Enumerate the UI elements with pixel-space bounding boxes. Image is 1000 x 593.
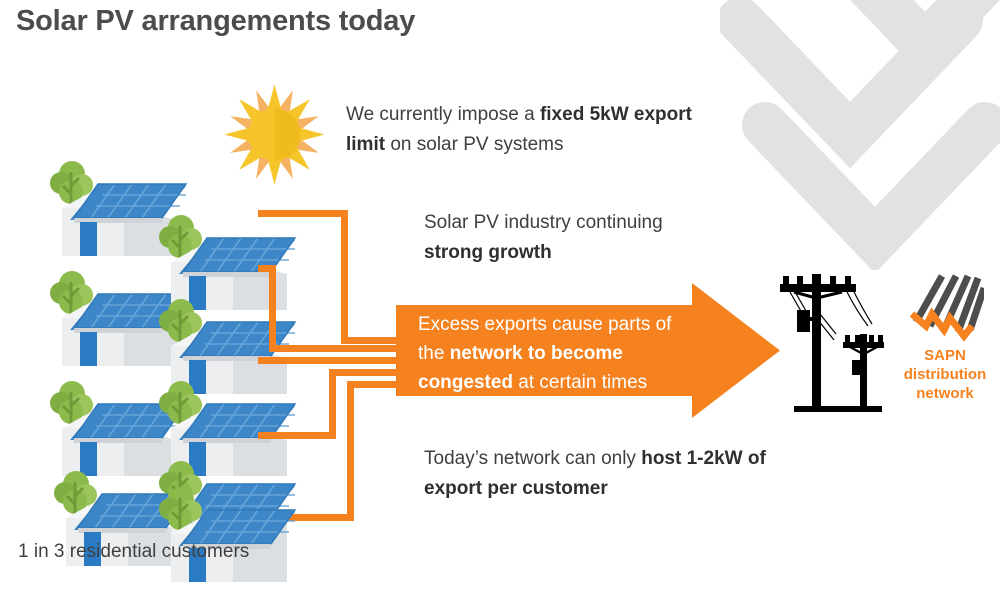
power-wire-4-rise bbox=[329, 369, 336, 439]
sapn-label-line-3: network bbox=[900, 384, 990, 403]
sapn-label-line-1: SAPN bbox=[900, 346, 990, 365]
power-wire-1-drop bbox=[341, 210, 348, 344]
caption-hosting-capacity: Today’s network can only host 1-2kW of e… bbox=[424, 444, 814, 504]
caption-strong-growth-part-1: strong growth bbox=[424, 242, 552, 263]
caption-congestion-part-2: at certain times bbox=[513, 372, 647, 393]
caption-strong-growth: Solar PV industry continuing strong grow… bbox=[424, 208, 724, 268]
sun-icon bbox=[222, 82, 327, 187]
power-wire-1-join bbox=[341, 337, 403, 344]
caption-export-limit-part-2: on solar PV systems bbox=[385, 134, 563, 155]
power-wire-2-join bbox=[269, 345, 403, 352]
caption-strong-growth-part-0: Solar PV industry continuing bbox=[424, 212, 663, 233]
caption-congestion: Excess exports cause parts of the networ… bbox=[418, 310, 686, 397]
sapn-logo-label: SAPN distribution network bbox=[900, 346, 990, 403]
power-wire-4 bbox=[258, 432, 336, 439]
power-wire-5-join bbox=[347, 381, 403, 388]
power-wire-5-rise bbox=[347, 381, 354, 521]
bottom-caption: 1 in 3 residential customers bbox=[18, 541, 249, 563]
page-title: Solar PV arrangements today bbox=[16, 5, 415, 38]
caption-export-limit: We currently impose a fixed 5kW export l… bbox=[346, 100, 706, 160]
chevron-watermark-icon bbox=[720, 0, 1000, 270]
power-wire-3 bbox=[258, 357, 403, 364]
power-pole-icon bbox=[772, 268, 884, 420]
power-wire-4-join bbox=[329, 369, 403, 376]
sapn-lightning-logo-icon bbox=[906, 268, 984, 342]
sapn-label-line-2: distribution bbox=[900, 365, 990, 384]
house-with-solar-panels-icon bbox=[155, 478, 305, 588]
sapn-logo: SAPN distribution network bbox=[900, 268, 990, 413]
caption-export-limit-part-0: We currently impose a bbox=[346, 104, 540, 125]
caption-hosting-capacity-part-0: Today’s network can only bbox=[424, 448, 641, 469]
power-wire-1 bbox=[258, 210, 348, 217]
power-wire-2-drop bbox=[269, 265, 276, 348]
slide-canvas: Solar PV arrangements today bbox=[0, 0, 1000, 575]
